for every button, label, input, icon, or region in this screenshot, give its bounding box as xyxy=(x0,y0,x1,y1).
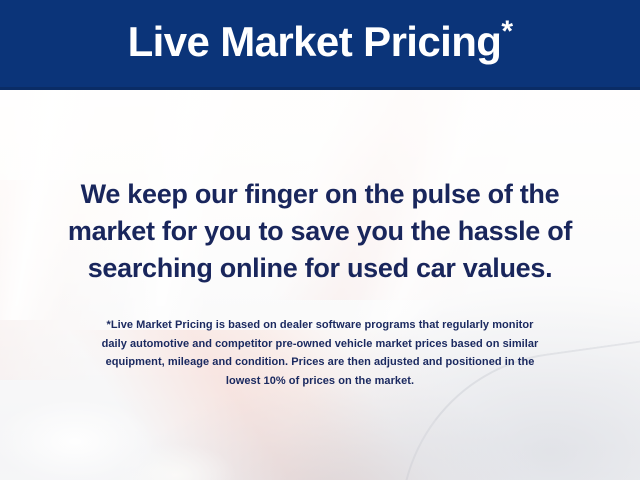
page-title: Live Market Pricing* xyxy=(128,21,513,66)
page-title-text: Live Market Pricing xyxy=(128,18,502,65)
headline-line: We keep our finger on the pulse of the xyxy=(22,176,618,213)
headline-line: market for you to save you the hassle of xyxy=(22,213,618,250)
fineprint-block: *Live Market Pricing is based on dealer … xyxy=(0,316,640,390)
footnote-asterisk-marker: * xyxy=(501,15,512,48)
live-market-pricing-promo: Live Market Pricing* We keep our finger … xyxy=(0,0,640,480)
fineprint-line: lowest 10% of prices on the market. xyxy=(26,372,614,391)
header-banner: Live Market Pricing* xyxy=(0,0,640,90)
fineprint-line: *Live Market Pricing is based on dealer … xyxy=(26,316,614,335)
fineprint-line: daily automotive and competitor pre-owne… xyxy=(26,335,614,354)
headline-line: searching online for used car values. xyxy=(22,250,618,287)
fineprint-line: equipment, mileage and condition. Prices… xyxy=(26,353,614,372)
headline-block: We keep our finger on the pulse of the m… xyxy=(0,176,640,287)
